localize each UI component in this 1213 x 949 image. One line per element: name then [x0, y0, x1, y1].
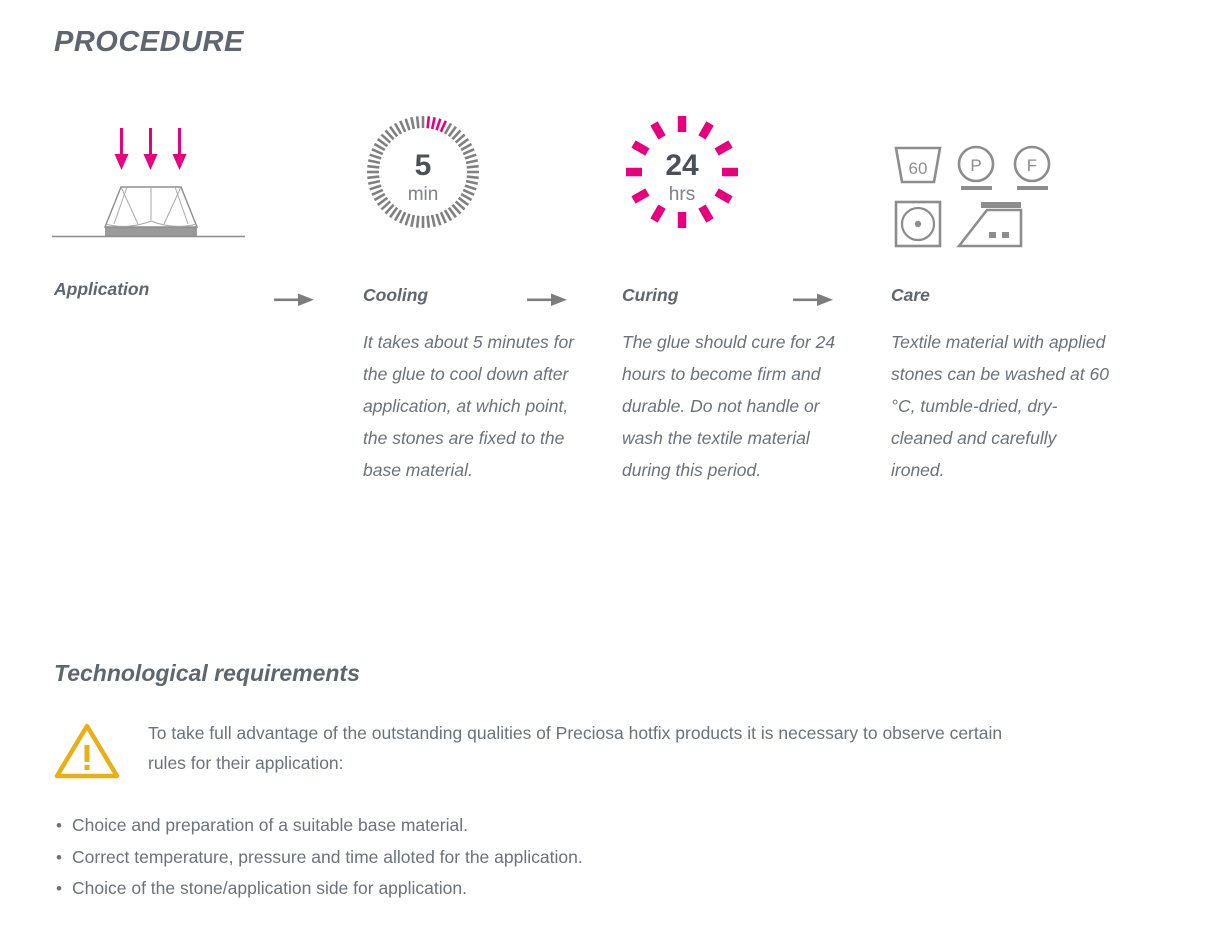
step-body-care: Textile material with applied stones can… — [891, 326, 1111, 486]
list-item-text: Choice of the stone/application side for… — [72, 873, 467, 905]
arrow-application-to-cooling — [274, 292, 318, 308]
timer-unit: min — [408, 184, 439, 205]
dryclean-p-letter: P — [970, 156, 981, 175]
timer-clock-icon-5min: 5 min — [363, 112, 483, 237]
requirements-bullet-list: • Choice and preparation of a suitable b… — [56, 810, 1056, 905]
arrow-curing-to-care — [793, 292, 837, 308]
list-item: • Correct temperature, pressure and time… — [56, 842, 1056, 874]
list-item-text: Correct temperature, pressure and time a… — [72, 842, 583, 874]
list-item: • Choice of the stone/application side f… — [56, 873, 1056, 905]
dryclean-f-underline — [1017, 186, 1048, 190]
application-icon-area — [54, 100, 294, 285]
stone-press-diagram — [52, 120, 292, 270]
section-title-technological-requirements: Technological requirements — [54, 660, 360, 687]
procedure-step-care: 60 P F — [891, 100, 1111, 486]
tumble-dry-icon — [896, 202, 940, 246]
dryclean-f-letter: F — [1027, 156, 1037, 175]
warning-text: To take full advantage of the outstandin… — [148, 718, 1004, 778]
wash-temperature-value: 60 — [909, 159, 928, 178]
warning-triangle-icon — [54, 722, 120, 785]
step-body-curing: The glue should cure for 24 hours to bec… — [622, 326, 852, 486]
cooling-icon-area: 5 min — [363, 100, 578, 285]
arrow-cooling-to-curing — [527, 292, 571, 308]
timer-value: 5 — [415, 149, 432, 182]
procedure-step-application: Application — [54, 100, 294, 320]
bullet-marker: • — [56, 842, 72, 874]
step-body-cooling: It takes about 5 minutes for the glue to… — [363, 326, 578, 486]
page-title: PROCEDURE — [54, 26, 244, 59]
dryclean-p-underline — [961, 186, 992, 190]
timer-value: 24 — [665, 149, 699, 182]
timer-unit: hrs — [669, 184, 695, 205]
curing-icon-area: 24 hrs — [622, 100, 852, 285]
care-symbols-group: 60 P F — [891, 100, 1111, 285]
procedure-section: Application 5 min Cooling It takes about… — [0, 100, 1213, 560]
warning-block: To take full advantage of the outstandin… — [54, 718, 1004, 785]
list-item-text: Choice and preparation of a suitable bas… — [72, 810, 468, 842]
list-item: • Choice and preparation of a suitable b… — [56, 810, 1056, 842]
bullet-marker: • — [56, 810, 72, 842]
iron-icon — [959, 202, 1021, 246]
timer-clock-icon-24hrs: 24 hrs — [622, 112, 742, 237]
step-label-care: Care — [891, 285, 1111, 306]
bullet-marker: • — [56, 873, 72, 905]
